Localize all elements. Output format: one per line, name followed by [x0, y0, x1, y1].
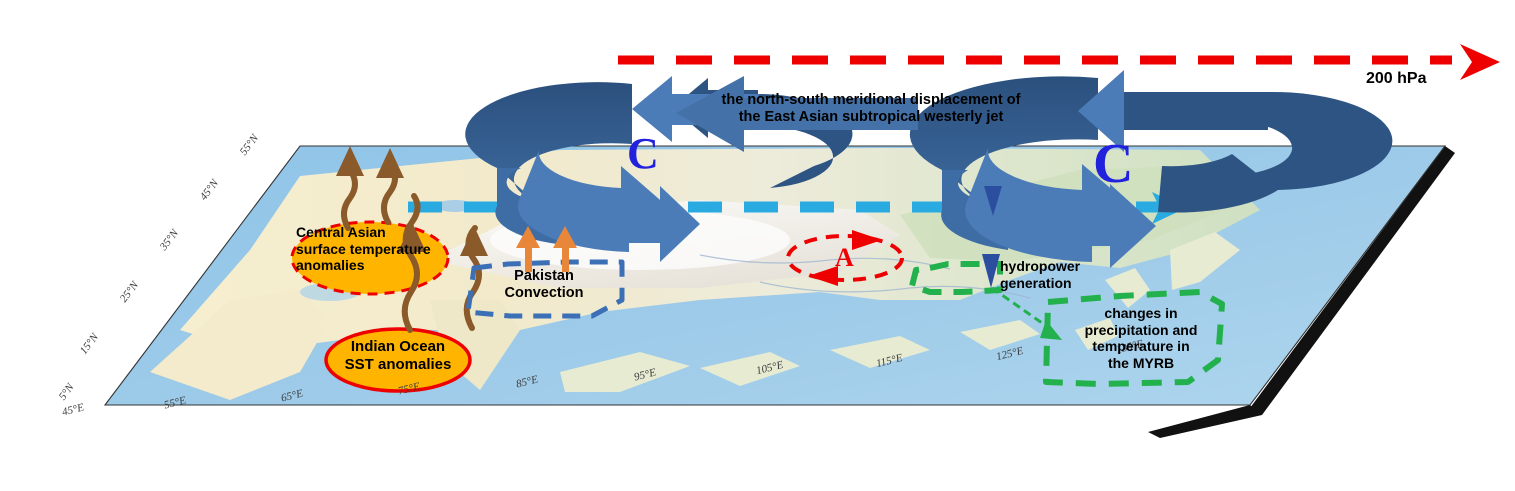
jet-displacement-label: the north-south meridional displacement …	[712, 92, 1030, 126]
pakistan-convection-label: Pakistan Convection	[492, 268, 596, 302]
map-plane-container	[0, 0, 1515, 491]
anticyclone-letter: A	[835, 243, 854, 273]
diagram-svg	[0, 0, 1515, 491]
indian-ocean-anomaly-label: Indian Ocean SST anomalies	[330, 338, 466, 373]
cyclone-right-letter: C	[1093, 132, 1133, 196]
myrb-changes-label: changes in precipitation and temperature…	[1060, 305, 1222, 371]
cyclone-left-letter: C	[627, 128, 659, 179]
central-asian-anomaly-label: Central Asian surface temperature anomal…	[296, 224, 446, 274]
pressure-level-label: 200 hPa	[1366, 70, 1426, 89]
hydropower-generation-label: hydropower generation	[1000, 258, 1110, 291]
diagram-canvas: 45°E 55°E 65°E 75°E 85°E 95°E 105°E 115°…	[0, 0, 1515, 491]
